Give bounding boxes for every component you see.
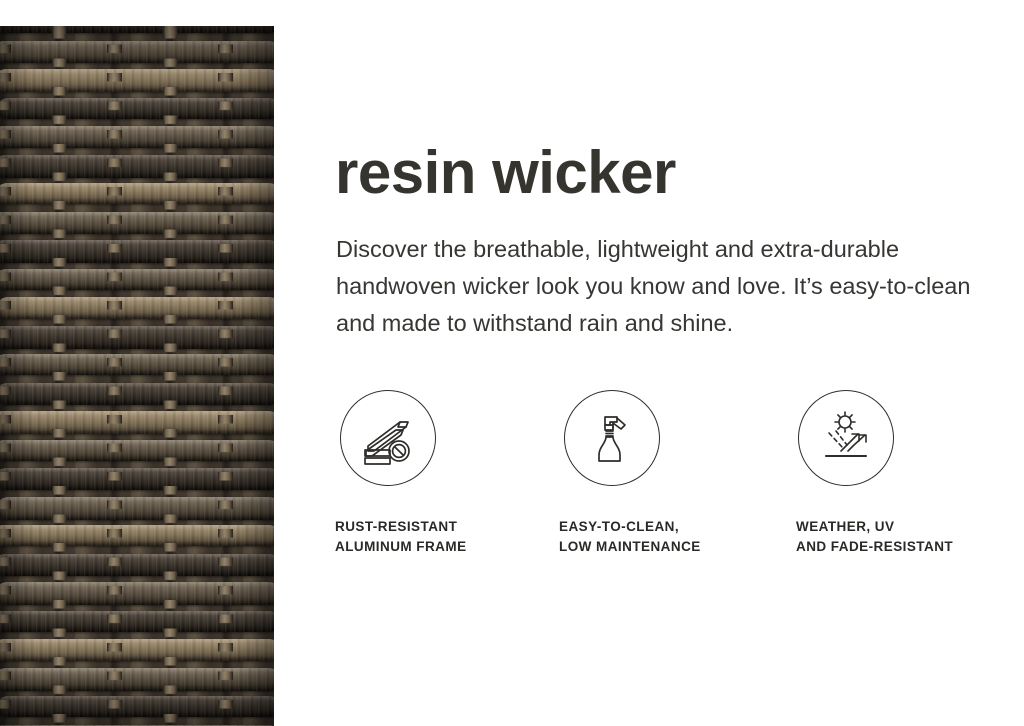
wicker-post — [107, 26, 122, 726]
aluminum-planks-no-rust-icon — [356, 406, 420, 470]
page-title: resin wicker — [335, 143, 676, 203]
feature-item-weather-uv-fade: WEATHER, UV AND FADE-RESISTANT — [796, 390, 1006, 557]
wicker-post — [274, 26, 275, 726]
feature-icon-circle — [798, 390, 894, 486]
hero-description: Discover the breathable, lightweight and… — [336, 231, 974, 342]
feature-icon-circle — [340, 390, 436, 486]
feature-item-easy-to-clean: EASY-TO-CLEAN, LOW MAINTENANCE — [559, 390, 769, 557]
wicker-post — [52, 26, 67, 726]
resin-wicker-hero-panel: resin wicker Discover the breathable, li… — [0, 0, 1024, 726]
feature-list: RUST-RESISTANT ALUMINUM FRAME — [335, 390, 995, 570]
sun-uv-reflection-icon — [814, 406, 878, 470]
feature-label: WEATHER, UV AND FADE-RESISTANT — [796, 517, 1006, 557]
wicker-post — [0, 26, 11, 726]
feature-icon-circle — [564, 390, 660, 486]
wicker-texture-photo — [0, 26, 274, 726]
feature-label: EASY-TO-CLEAN, LOW MAINTENANCE — [559, 517, 769, 557]
wicker-post — [163, 26, 178, 726]
spray-bottle-icon — [580, 406, 644, 470]
hero-content: resin wicker Discover the breathable, li… — [335, 0, 995, 726]
feature-label: RUST-RESISTANT ALUMINUM FRAME — [335, 517, 545, 557]
wicker-post — [218, 26, 233, 726]
feature-item-rust-resistant: RUST-RESISTANT ALUMINUM FRAME — [335, 390, 545, 557]
